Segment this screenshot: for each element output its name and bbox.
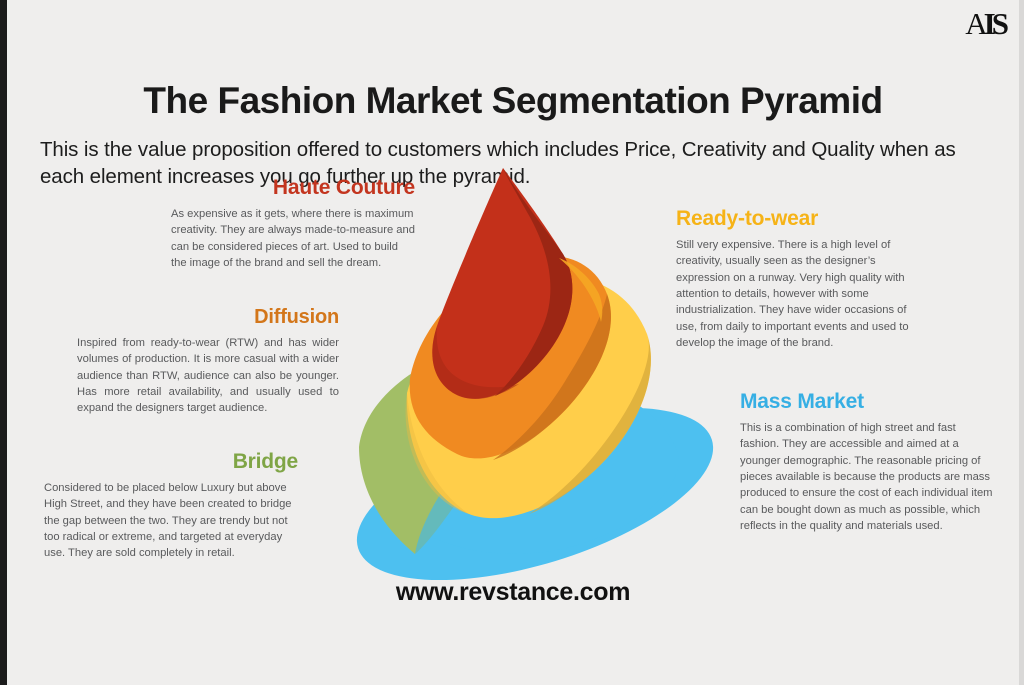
segment-heading-haute-couture: Haute Couture xyxy=(157,176,415,199)
segment-mass-market: Mass Market This is a combination of hig… xyxy=(740,390,993,535)
logo-letter-s: S xyxy=(992,6,1005,41)
infographic-page: AIS The Fashion Market Segmentation Pyra… xyxy=(0,0,1024,685)
page-title: The Fashion Market Segmentation Pyramid xyxy=(7,80,1019,122)
segment-haute-couture: Haute Couture As expensive as it gets, w… xyxy=(157,176,415,271)
segment-heading-ready-to-wear: Ready-to-wear xyxy=(676,207,928,230)
footer-website-url: www.revstance.com xyxy=(7,578,1019,607)
segment-body-diffusion: Inspired from ready-to-wear (RTW) and ha… xyxy=(77,335,339,417)
segment-diffusion: Diffusion Inspired from ready-to-wear (R… xyxy=(77,306,339,417)
segment-ready-to-wear: Ready-to-wear Still very expensive. Ther… xyxy=(676,207,928,352)
segment-body-bridge: Considered to be placed below Luxury but… xyxy=(44,480,298,562)
segment-heading-bridge: Bridge xyxy=(44,450,298,473)
segment-heading-diffusion: Diffusion xyxy=(77,306,339,328)
segment-bridge: Bridge Considered to be placed below Lux… xyxy=(44,450,298,562)
ais-logo: AIS xyxy=(945,8,1005,40)
segment-body-ready-to-wear: Still very expensive. There is a high le… xyxy=(676,237,928,351)
logo-letter-a: A xyxy=(965,6,983,41)
segment-heading-mass-market: Mass Market xyxy=(740,390,993,413)
segment-body-mass-market: This is a combination of high street and… xyxy=(740,420,993,534)
logo-letter-i: I xyxy=(984,6,992,41)
segment-body-haute-couture: As expensive as it gets, where there is … xyxy=(157,206,415,271)
